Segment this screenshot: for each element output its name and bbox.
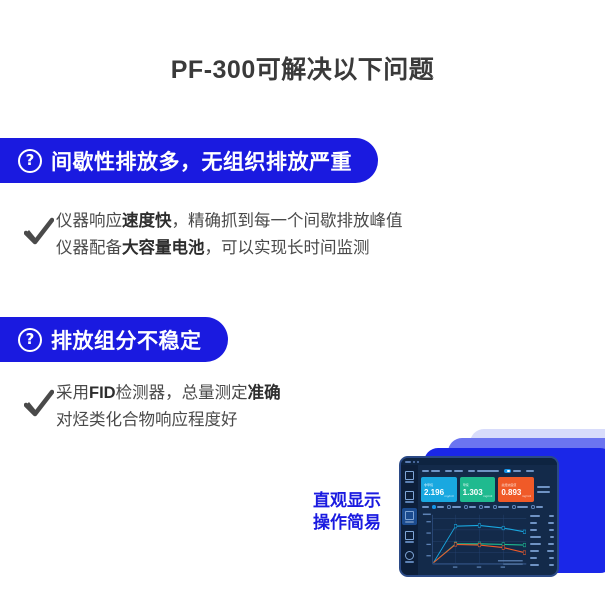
toolbar-toggle[interactable] xyxy=(504,469,521,473)
page-title: PF-300可解决以下问题 xyxy=(0,50,605,86)
solution-line: 采用FID检测器，总量测定准确 xyxy=(56,380,281,407)
toolbar-field-2[interactable] xyxy=(445,470,463,472)
toolbar-action[interactable] xyxy=(526,470,534,472)
sidebar-item-report[interactable] xyxy=(402,528,417,545)
value-card-unit: mg/m3 xyxy=(445,494,454,498)
radio-option-7[interactable] xyxy=(531,505,543,509)
check-icon xyxy=(24,216,54,250)
app-sidebar xyxy=(401,465,418,575)
tablet-device: 非甲烷 2.196 mg/m3 甲烷 1.303 mg/m3 总烃浓度值 0.8… xyxy=(399,456,559,577)
line-chart xyxy=(422,511,528,572)
radio-option-6[interactable] xyxy=(512,505,528,509)
device-caption-line-1: 直观显示 xyxy=(313,490,381,512)
problem-banner-2-label: 排放组分不稳定 xyxy=(51,325,202,355)
problem-banner-1: ? 间歇性排放多，无组织排放严重 xyxy=(0,138,378,183)
value-card-label: 总烃浓度值 xyxy=(501,483,531,487)
solution-block-1: 仪器响应速度快，精确抓到每一个间歇排放峰值 仪器配备大容量电池，可以实现长时间监… xyxy=(24,208,403,262)
sidebar-item-settings[interactable] xyxy=(402,548,417,565)
sidebar-item-monitor[interactable] xyxy=(402,468,417,485)
toolbar-datetime[interactable] xyxy=(468,470,499,472)
solution-block-1-lines: 仪器响应速度快，精确抓到每一个间歇排放峰值 仪器配备大容量电池，可以实现长时间监… xyxy=(56,208,403,262)
solution-block-2: 采用FID检测器，总量测定准确 对烃类化合物响应程度好 xyxy=(24,380,281,434)
device-caption-line-2: 操作简易 xyxy=(313,512,381,534)
app-main: 非甲烷 2.196 mg/m3 甲烷 1.303 mg/m3 总烃浓度值 0.8… xyxy=(418,465,557,575)
chart-legend xyxy=(530,511,554,572)
question-mark-circle-icon: ? xyxy=(18,328,42,352)
value-card-unit: mg/m3 xyxy=(522,494,531,498)
problem-banner-1-label: 间歇性排放多，无组织排放严重 xyxy=(51,146,352,176)
toolbar-field-1[interactable] xyxy=(422,470,440,472)
sidebar-item-data[interactable] xyxy=(402,488,417,505)
value-card-thc: 总烃浓度值 0.893 mg/m3 xyxy=(498,477,534,502)
tablet-titlebar xyxy=(401,458,557,465)
chart-area xyxy=(420,510,555,574)
solution-line: 仪器配备大容量电池，可以实现长时间监测 xyxy=(56,235,403,262)
card-side-labels xyxy=(537,477,554,502)
radio-option-3[interactable] xyxy=(464,505,476,509)
radio-option-1[interactable] xyxy=(432,505,444,509)
value-card-nmhc: 非甲烷 2.196 mg/m3 xyxy=(421,477,457,502)
value-card-label: 甲烷 xyxy=(463,483,493,487)
value-card-methane: 甲烷 1.303 mg/m3 xyxy=(460,477,496,502)
sidebar-item-chart[interactable] xyxy=(402,508,417,525)
value-card-row: 非甲烷 2.196 mg/m3 甲烷 1.303 mg/m3 总烃浓度值 0.8… xyxy=(420,475,555,504)
question-mark-circle-icon: ? xyxy=(18,149,42,173)
solution-line: 仪器响应速度快，精确抓到每一个间歇排放峰值 xyxy=(56,208,403,235)
tablet-body: 非甲烷 2.196 mg/m3 甲烷 1.303 mg/m3 总烃浓度值 0.8… xyxy=(401,465,557,575)
radio-option-5[interactable] xyxy=(493,505,509,509)
radio-option-4[interactable] xyxy=(479,505,490,509)
promo-page: PF-300可解决以下问题 ? 间歇性排放多，无组织排放严重 仪器响应速度快，精… xyxy=(0,0,605,605)
problem-banner-2: ? 排放组分不稳定 xyxy=(0,317,228,362)
app-toolbar xyxy=(420,467,555,475)
value-card-unit: mg/m3 xyxy=(483,494,492,498)
check-icon xyxy=(24,388,54,422)
device-caption: 直观显示 操作简易 xyxy=(313,490,381,534)
radio-option-2[interactable] xyxy=(447,505,461,509)
value-card-label: 非甲烷 xyxy=(424,483,454,487)
solution-line: 对烃类化合物响应程度好 xyxy=(56,407,281,434)
solution-block-2-lines: 采用FID检测器，总量测定准确 对烃类化合物响应程度好 xyxy=(56,380,281,434)
